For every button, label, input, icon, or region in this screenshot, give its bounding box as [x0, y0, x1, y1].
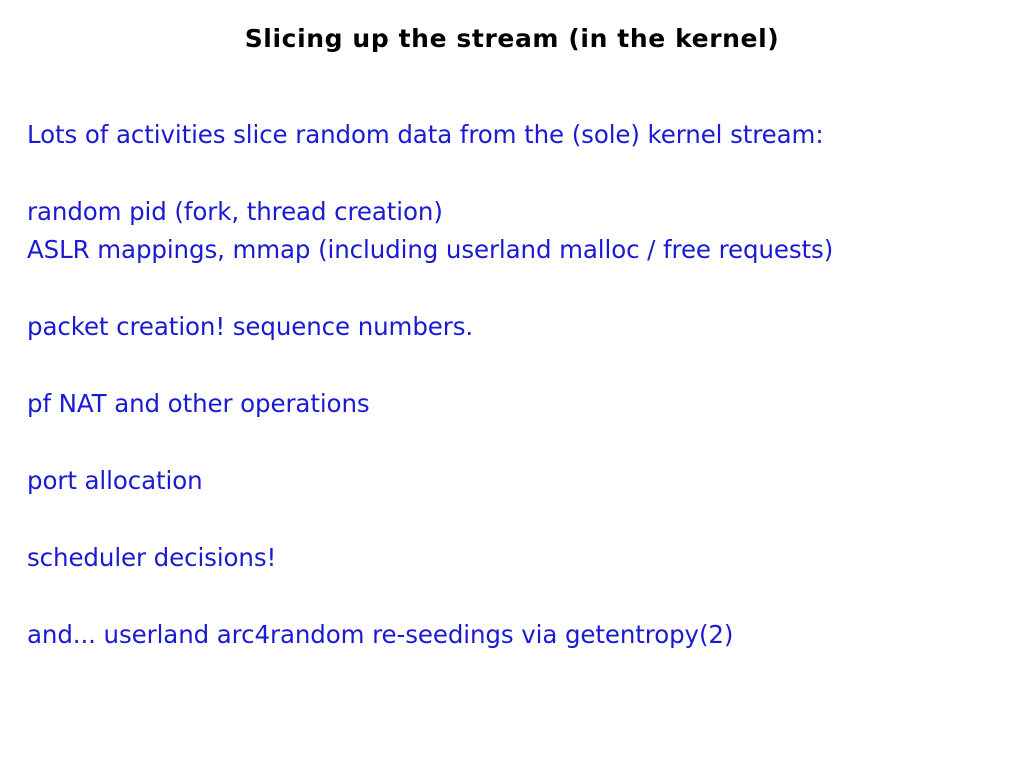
slide-body: Lots of activities slice random data fro…	[27, 116, 1002, 654]
text-line: packet creation! sequence numbers.	[27, 308, 1002, 346]
slide-title: Slicing up the stream (in the kernel)	[0, 24, 1024, 54]
text-line: ASLR mappings, mmap (including userland …	[27, 231, 1002, 269]
text-block-intro: Lots of activities slice random data fro…	[27, 116, 1002, 154]
text-line: pf NAT and other operations	[27, 385, 1002, 423]
text-block-arc4random-reseed: and... userland arc4random re-seedings v…	[27, 616, 1002, 654]
text-block-pid-and-aslr: random pid (fork, thread creation)ASLR m…	[27, 193, 1002, 269]
text-block-scheduler-decisions: scheduler decisions!	[27, 539, 1002, 577]
text-line: port allocation	[27, 462, 1002, 500]
text-block-packet-creation: packet creation! sequence numbers.	[27, 308, 1002, 346]
text-line: and... userland arc4random re-seedings v…	[27, 616, 1002, 654]
presentation-slide: Slicing up the stream (in the kernel) Lo…	[0, 0, 1024, 768]
text-block-port-allocation: port allocation	[27, 462, 1002, 500]
text-line: scheduler decisions!	[27, 539, 1002, 577]
text-line: Lots of activities slice random data fro…	[27, 116, 1002, 154]
text-block-pf-nat: pf NAT and other operations	[27, 385, 1002, 423]
text-line: random pid (fork, thread creation)	[27, 193, 1002, 231]
